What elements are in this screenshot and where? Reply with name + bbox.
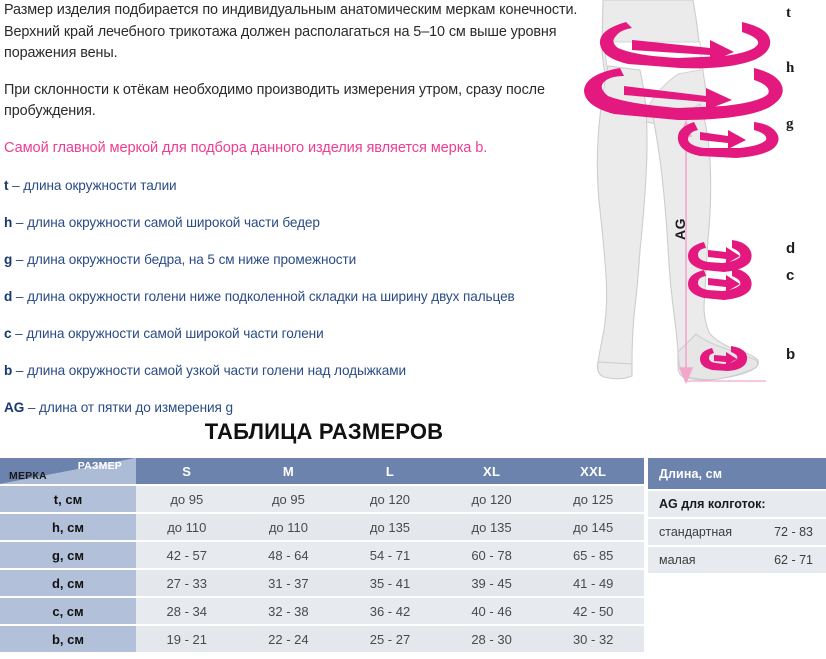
cell-b-xl: 28 - 30 bbox=[441, 626, 543, 652]
measure-text-c: длина окружности самой широкой части гол… bbox=[26, 326, 323, 341]
column-header-m: M bbox=[238, 458, 340, 484]
measure-legend-c: c – длина окружности самой широкой части… bbox=[4, 324, 612, 343]
length-name-standard: стандартная bbox=[648, 519, 760, 545]
length-value-standard: 72 - 83 bbox=[760, 519, 826, 545]
measure-key-d: d bbox=[4, 289, 12, 304]
cell-h-m: до 110 bbox=[238, 514, 340, 540]
cell-t-m: до 95 bbox=[238, 486, 340, 512]
length-table-header: Длина, см bbox=[648, 458, 826, 489]
cell-t-l: до 120 bbox=[339, 486, 441, 512]
column-header-s: S bbox=[136, 458, 238, 484]
length-table: Длина, см AG для колготок: стандартная 7… bbox=[648, 456, 826, 659]
corner-measure-label: МЕРКА bbox=[9, 470, 47, 482]
cell-d-xxl: 41 - 49 bbox=[542, 570, 644, 596]
figure-label-b: b bbox=[786, 346, 795, 363]
instructions-text-block: Размер изделия подбирается по индивидуал… bbox=[4, 0, 612, 435]
measure-dash-t: – bbox=[12, 178, 19, 193]
row-header-b: b, см bbox=[0, 626, 136, 652]
measure-dash-ag: – bbox=[28, 400, 35, 415]
measure-legend-h: h – длина окружности самой широкой части… bbox=[4, 213, 612, 232]
measure-legend-d: d – длина окружности голени ниже подколе… bbox=[4, 287, 612, 306]
column-header-xl: XL bbox=[441, 458, 543, 484]
measure-key-c: c bbox=[4, 326, 11, 341]
leg-figure-svg bbox=[528, 0, 826, 400]
measure-dash-b: – bbox=[16, 363, 23, 378]
cell-c-l: 36 - 42 bbox=[339, 598, 441, 624]
measure-dash-g: – bbox=[16, 252, 23, 267]
cell-h-l: до 135 bbox=[339, 514, 441, 540]
cell-c-xxl: 42 - 50 bbox=[542, 598, 644, 624]
length-table-blank-2 bbox=[648, 603, 826, 629]
measure-text-d: длина окружности голени ниже подколенной… bbox=[27, 289, 515, 304]
measure-text-g: длина окружности бедра, на 5 см ниже про… bbox=[27, 252, 356, 267]
length-table-header-row: Длина, см bbox=[648, 458, 826, 489]
row-header-g: g, см bbox=[0, 542, 136, 568]
cell-c-m: 32 - 38 bbox=[238, 598, 340, 624]
row-header-h: h, см bbox=[0, 514, 136, 540]
intro-paragraph-2: При склонности к отёкам необходимо произ… bbox=[4, 80, 612, 123]
length-table-filler bbox=[648, 575, 826, 601]
table-row: t, см до 95 до 95 до 120 до 120 до 125 bbox=[0, 486, 644, 512]
corner-size-label: РАЗМЕР bbox=[78, 460, 122, 472]
size-table: РАЗМЕР МЕРКА S M L XL XXL t, см до 95 до… bbox=[0, 456, 644, 654]
measure-key-t: t bbox=[4, 178, 8, 193]
length-table-blank-1 bbox=[648, 575, 826, 601]
highlight-note: Самой главной меркой для подбора данного… bbox=[4, 138, 612, 160]
measure-key-b: b bbox=[4, 363, 12, 378]
table-row: g, см 42 - 57 48 - 64 54 - 71 60 - 78 65… bbox=[0, 542, 644, 568]
measure-text-ag: длина от пятки до измерения g bbox=[39, 400, 233, 415]
measure-band-c bbox=[688, 268, 752, 300]
cell-h-xl: до 135 bbox=[441, 514, 543, 540]
figure-label-ag: AG bbox=[672, 218, 688, 240]
page-title: ТАБЛИЦА РАЗМЕРОВ bbox=[0, 419, 648, 445]
cell-b-s: 19 - 21 bbox=[136, 626, 238, 652]
figure-label-d: d bbox=[786, 240, 795, 257]
length-table-blank-3 bbox=[648, 631, 826, 657]
measure-legend-t: t – длина окружности талии bbox=[4, 176, 612, 195]
cell-b-xxl: 30 - 32 bbox=[542, 626, 644, 652]
cell-d-xl: 39 - 45 bbox=[441, 570, 543, 596]
cell-g-xxl: 65 - 85 bbox=[542, 542, 644, 568]
table-row: b, см 19 - 21 22 - 24 25 - 27 28 - 30 30… bbox=[0, 626, 644, 652]
cell-h-xxl: до 145 bbox=[542, 514, 644, 540]
cell-c-xl: 40 - 46 bbox=[441, 598, 543, 624]
figure-label-c: c bbox=[786, 267, 794, 284]
measure-text-t: длина окружности талии bbox=[23, 178, 176, 193]
corner-header-cell: РАЗМЕР МЕРКА bbox=[0, 458, 136, 484]
cell-h-s: до 110 bbox=[136, 514, 238, 540]
figure-label-g: g bbox=[786, 116, 794, 133]
cell-g-m: 48 - 64 bbox=[238, 542, 340, 568]
cell-d-m: 31 - 37 bbox=[238, 570, 340, 596]
cell-g-s: 42 - 57 bbox=[136, 542, 238, 568]
measure-legend-g: g – длина окружности бедра, на 5 см ниже… bbox=[4, 250, 612, 269]
list-item: AG для колготок: bbox=[648, 491, 826, 517]
list-item: малая 62 - 71 bbox=[648, 547, 826, 573]
column-header-xxl: XXL bbox=[542, 458, 644, 484]
cell-g-xl: 60 - 78 bbox=[441, 542, 543, 568]
length-table-subtitle: AG для колготок: bbox=[648, 491, 826, 517]
measure-key-h: h bbox=[4, 215, 12, 230]
cell-b-m: 22 - 24 bbox=[238, 626, 340, 652]
length-name-small: малая bbox=[648, 547, 760, 573]
figure-label-h: h bbox=[786, 60, 794, 77]
length-table-filler bbox=[648, 631, 826, 657]
table-row: h, см до 110 до 110 до 135 до 135 до 145 bbox=[0, 514, 644, 540]
size-table-header-row: РАЗМЕР МЕРКА S M L XL XXL bbox=[0, 458, 644, 484]
measure-key-ag: AG bbox=[4, 400, 24, 415]
table-row: c, см 28 - 34 32 - 38 36 - 42 40 - 46 42… bbox=[0, 598, 644, 624]
row-header-d: d, см bbox=[0, 570, 136, 596]
measure-text-b: длина окружности самой узкой части голен… bbox=[27, 363, 406, 378]
measure-text-h: длина окружности самой широкой части бед… bbox=[27, 215, 320, 230]
measure-dash-h: – bbox=[16, 215, 23, 230]
row-header-t: t, см bbox=[0, 486, 136, 512]
cell-d-s: 27 - 33 bbox=[136, 570, 238, 596]
row-header-c: c, см bbox=[0, 598, 136, 624]
intro-paragraph-1: Размер изделия подбирается по индивидуал… bbox=[4, 0, 612, 65]
list-item: стандартная 72 - 83 bbox=[648, 519, 826, 545]
measure-dash-c: – bbox=[15, 326, 22, 341]
table-row: d, см 27 - 33 31 - 37 35 - 41 39 - 45 41… bbox=[0, 570, 644, 596]
measure-key-g: g bbox=[4, 252, 12, 267]
body-measurement-diagram: t h g d c b AG bbox=[528, 0, 826, 400]
cell-g-l: 54 - 71 bbox=[339, 542, 441, 568]
measure-band-d bbox=[688, 240, 752, 272]
cell-d-l: 35 - 41 bbox=[339, 570, 441, 596]
length-value-small: 62 - 71 bbox=[760, 547, 826, 573]
figure-label-t: t bbox=[786, 5, 791, 22]
cell-b-l: 25 - 27 bbox=[339, 626, 441, 652]
cell-t-xl: до 120 bbox=[441, 486, 543, 512]
column-header-l: L bbox=[339, 458, 441, 484]
length-table-filler bbox=[648, 603, 826, 629]
cell-t-xxl: до 125 bbox=[542, 486, 644, 512]
cell-c-s: 28 - 34 bbox=[136, 598, 238, 624]
measure-dash-d: – bbox=[16, 289, 23, 304]
measure-legend-b: b – длина окружности самой узкой части г… bbox=[4, 361, 612, 380]
measure-legend-ag: AG – длина от пятки до измерения g bbox=[4, 398, 612, 417]
cell-t-s: до 95 bbox=[136, 486, 238, 512]
